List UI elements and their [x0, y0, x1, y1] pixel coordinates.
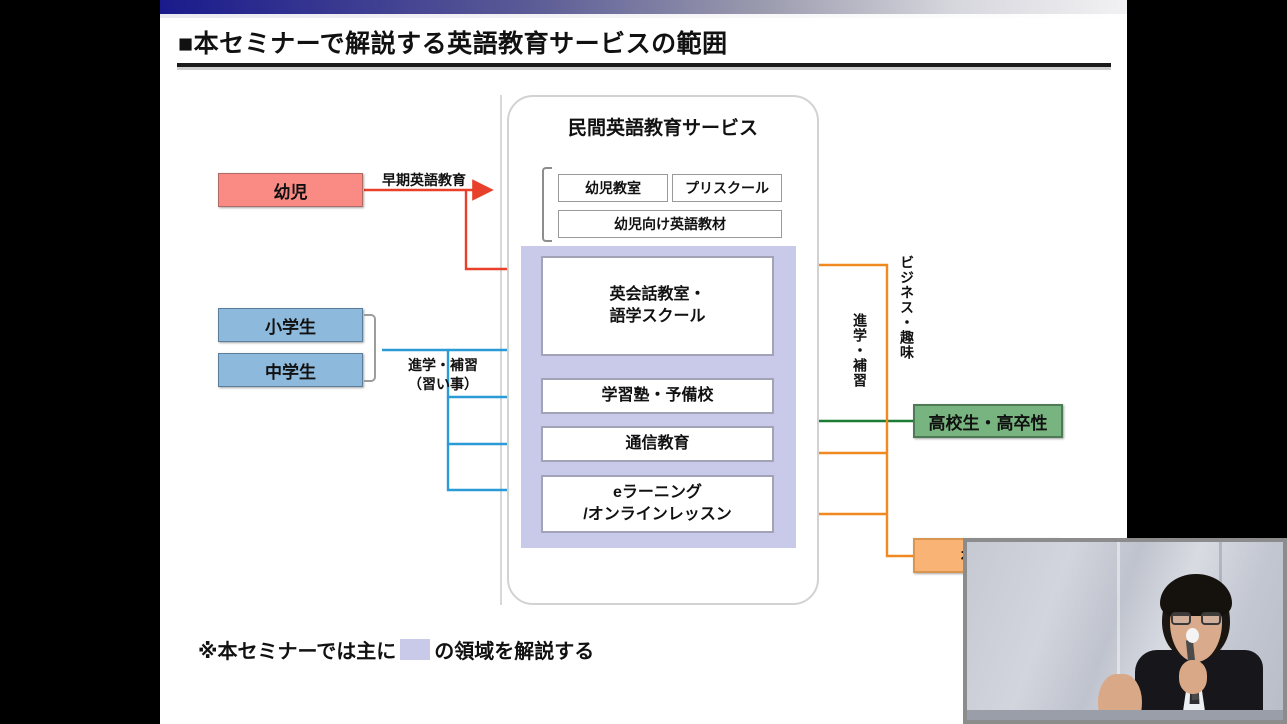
service-box-preschool-class[interactable]: 幼児教室: [558, 174, 668, 202]
footnote: ※本セミナーでは主に の領域を解説する: [198, 634, 594, 664]
segment-box-junior-high[interactable]: 中学生: [218, 353, 363, 387]
service-box-english-conversation-school-label: 英会話教室・語学スクール: [609, 284, 705, 327]
service-box-cram-school[interactable]: 学習塾・予備校: [541, 378, 774, 414]
service-box-elearning-online-lesson[interactable]: eラーニング/オンラインレッスン: [541, 475, 774, 533]
service-box-elearning-online-lesson-label: eラーニング/オンラインレッスン: [583, 482, 731, 525]
flow-label-business-hobby: ビジネス・趣味: [897, 255, 917, 360]
service-box-infant-materials[interactable]: 幼児向け英語教材: [558, 210, 782, 238]
flow-label-early-english: 早期英語教育: [382, 170, 466, 190]
service-box-preschool[interactable]: プリスクール: [672, 174, 782, 202]
student-group-bracket: [364, 314, 376, 382]
service-box-correspondence-education[interactable]: 通信教育: [541, 426, 774, 462]
segment-box-infant[interactable]: 幼児: [218, 173, 363, 207]
flow-label-advance-supplement-vertical: 進学・補習: [850, 313, 870, 388]
container-title: 民間英語教育サービス: [507, 113, 819, 140]
service-box-correspondence-education-label: 通信教育: [625, 433, 689, 455]
footnote-color-swatch: [400, 639, 430, 660]
microphone-head-icon: [1186, 628, 1199, 643]
segment-box-elementary[interactable]: 小学生: [218, 308, 363, 342]
service-box-cram-school-label: 学習塾・予備校: [601, 385, 713, 407]
presenter-glasses-right-lens: [1201, 612, 1221, 625]
flow-label-advance-supplement-line1: 進学・補習: [388, 356, 498, 375]
video-bottom-edge: [967, 710, 1283, 720]
presenter-glasses-left-lens: [1171, 612, 1191, 625]
presenter-hand-holding-mic: [1179, 660, 1207, 694]
screen: ■本セミナーで解説する英語教育サービスの範囲: [0, 0, 1287, 724]
footnote-text-after: の領域を解説する: [434, 635, 594, 664]
segment-box-high-school[interactable]: 高校生・高卒性: [913, 404, 1063, 438]
early-childhood-bracket: [542, 167, 552, 242]
footnote-text-before: ※本セミナーでは主に: [198, 635, 396, 664]
presenter-video-overlay[interactable]: [963, 538, 1287, 724]
flow-label-advance-supplement: 進学・補習 （習い事）: [388, 356, 498, 394]
flow-label-advance-supplement-line2: （習い事）: [388, 375, 498, 394]
service-box-english-conversation-school[interactable]: 英会話教室・語学スクール: [541, 256, 774, 356]
